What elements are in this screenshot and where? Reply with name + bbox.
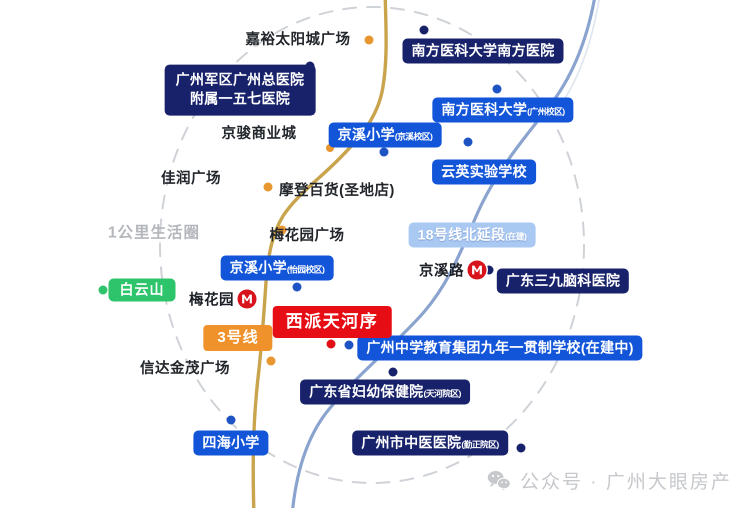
poi-label-nanfang-hospital[interactable]: 南方医科大学南方医院 <box>403 39 564 64</box>
poi-label-gz-middle-school-nine-year[interactable]: 广州中学教育集团九年一贯制学校(在建中) <box>357 336 642 361</box>
poi-label-text: 广东三九脑科医院 <box>506 273 620 289</box>
wechat-icon <box>487 470 511 491</box>
poi-label-guangdong-399-brain-hospital[interactable]: 广东三九脑科医院 <box>497 269 629 294</box>
poi-label-text: 广东省妇幼保健院 <box>309 384 423 400</box>
poi-dot-institution <box>493 85 502 94</box>
poi-dot-commercial <box>267 357 276 366</box>
poi-dot-project <box>327 340 336 349</box>
poi-label-text: 广州中学教育集团九年一贯制学校(在建中) <box>366 340 633 356</box>
poi-label-line-2: 附属一五七医院 <box>176 90 305 109</box>
poi-label-text: 白云山 <box>120 282 165 298</box>
poi-label-sub: (勤正院区) <box>461 440 498 450</box>
metro-logo-icon <box>471 264 484 277</box>
poi-dot-institution <box>389 368 398 377</box>
station-name-meihuayuan: 梅花园 <box>189 289 234 310</box>
poi-dot-institution <box>380 148 389 157</box>
poi-label-text: 南方医科大学南方医院 <box>412 43 555 59</box>
one-km-ring-label: 1公里生活圈 <box>108 225 200 241</box>
label-xinda-jinmao: 信达金茂广场 <box>140 362 230 377</box>
poi-label-sub: (京溪校区) <box>395 132 432 142</box>
poi-label-yunying-experimental-school[interactable]: 云英实验学校 <box>432 160 536 185</box>
poi-label-sub: (天河院区) <box>423 389 460 399</box>
poi-label-guangzhou-junqu-hospital[interactable]: 广州军区广州总医院 附属一五七医院 <box>165 65 316 116</box>
poi-label-text: 京溪小学 <box>230 260 287 276</box>
poi-label-jingxi-primary-jingxi-campus[interactable]: 京溪小学(京溪校区) <box>329 123 442 148</box>
poi-dot-park <box>99 286 108 295</box>
label-jiarun-guangchang: 佳润广场 <box>161 172 221 187</box>
watermark: 公众号 · 广州大眼房产 <box>487 467 732 494</box>
label-jingjun-shangyecheng: 京骏商业城 <box>222 127 297 142</box>
project-highlight-label[interactable]: 西派天河序 <box>273 306 392 338</box>
poi-label-sub: (怡园校区) <box>287 265 324 275</box>
station-marker-jingxilu[interactable] <box>468 261 487 280</box>
poi-dot-institution <box>345 341 354 350</box>
poi-label-line-1: 广州军区广州总医院 <box>176 71 305 90</box>
label-jiayu-taiyangcheng: 嘉裕太阳城广场 <box>246 33 351 48</box>
label-meihuayuan-guangchang: 梅花园广场 <box>270 229 345 244</box>
poi-label-guangdong-maternal-child-hospital[interactable]: 广东省妇幼保健院(天河院区) <box>300 380 470 405</box>
label-modeng-baihuo: 摩登百货(圣地店) <box>279 184 395 199</box>
map-canvas: 梅花园 京溪路 3号线 18号线北延段(在建) 1公里生活圈 嘉裕太阳城广场 京… <box>0 0 740 508</box>
poi-label-text: 云英实验学校 <box>441 164 527 180</box>
poi-dot-commercial <box>264 183 273 192</box>
poi-label-sub: (广州校区) <box>527 107 564 117</box>
poi-label-text: 四海小学 <box>202 435 259 451</box>
poi-dot-institution <box>517 444 526 453</box>
poi-dot-institution <box>227 416 236 425</box>
poi-label-nanfang-medical-university[interactable]: 南方医科大学(广州校区) <box>432 98 573 123</box>
metro-logo-icon <box>241 293 254 306</box>
watermark-text: 公众号 · 广州大眼房产 <box>520 467 732 494</box>
metro-line-badge-18-north[interactable]: 18号线北延段(在建) <box>409 223 536 248</box>
station-marker-meihuayuan[interactable] <box>238 290 257 309</box>
metro-line-badge-3[interactable]: 3号线 <box>203 325 272 351</box>
metro-line-18-label: 18号线北延段 <box>418 227 506 243</box>
poi-label-gz-tcm-hospital[interactable]: 广州市中医医院(勤正院区) <box>352 431 508 456</box>
poi-dot-institution <box>464 138 473 147</box>
poi-dot-institution <box>420 26 429 35</box>
station-name-jingxilu: 京溪路 <box>419 260 464 281</box>
poi-label-text: 京溪小学 <box>338 127 395 143</box>
poi-label-text: 南方医科大学 <box>441 102 527 118</box>
metro-line-18-sublabel: (在建) <box>505 232 526 242</box>
poi-dot-commercial <box>365 36 374 45</box>
poi-label-sihai-primary-school[interactable]: 四海小学 <box>193 431 268 456</box>
poi-label-text: 广州市中医医院 <box>361 435 461 451</box>
poi-label-jingxi-primary-yiyuan-campus[interactable]: 京溪小学(怡园校区) <box>221 256 334 281</box>
poi-dot-institution <box>293 283 302 292</box>
poi-label-baiyun-mountain[interactable]: 白云山 <box>109 279 176 302</box>
